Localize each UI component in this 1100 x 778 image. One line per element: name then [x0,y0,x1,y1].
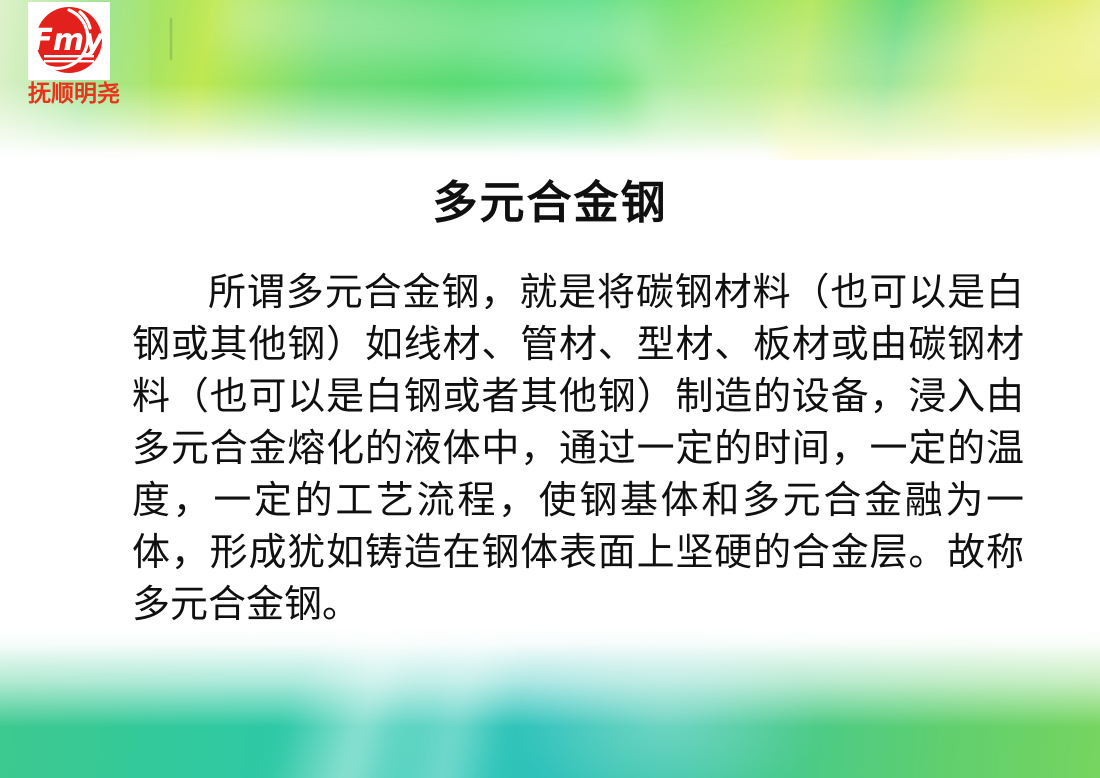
company-logo: Fmy 抚顺明尧 [14,2,134,107]
presentation-slide: Fmy 抚顺明尧 多元合金钢 所谓多元合金钢，就是将碳钢材料（也可以是白钢或其他… [0,0,1100,778]
slide-content: 多元合金钢 所谓多元合金钢，就是将碳钢材料（也可以是白钢或其他钢）如线材、管材、… [0,0,1100,778]
slide-title: 多元合金钢 [0,166,1100,231]
slide-body-paragraph: 所谓多元合金钢，就是将碳钢材料（也可以是白钢或其他钢）如线材、管材、型材、板材或… [132,266,1024,630]
fmy-logo-icon: Fmy [28,2,110,80]
svg-text:Fmy: Fmy [32,23,105,58]
company-name-label: 抚顺明尧 [14,82,134,107]
